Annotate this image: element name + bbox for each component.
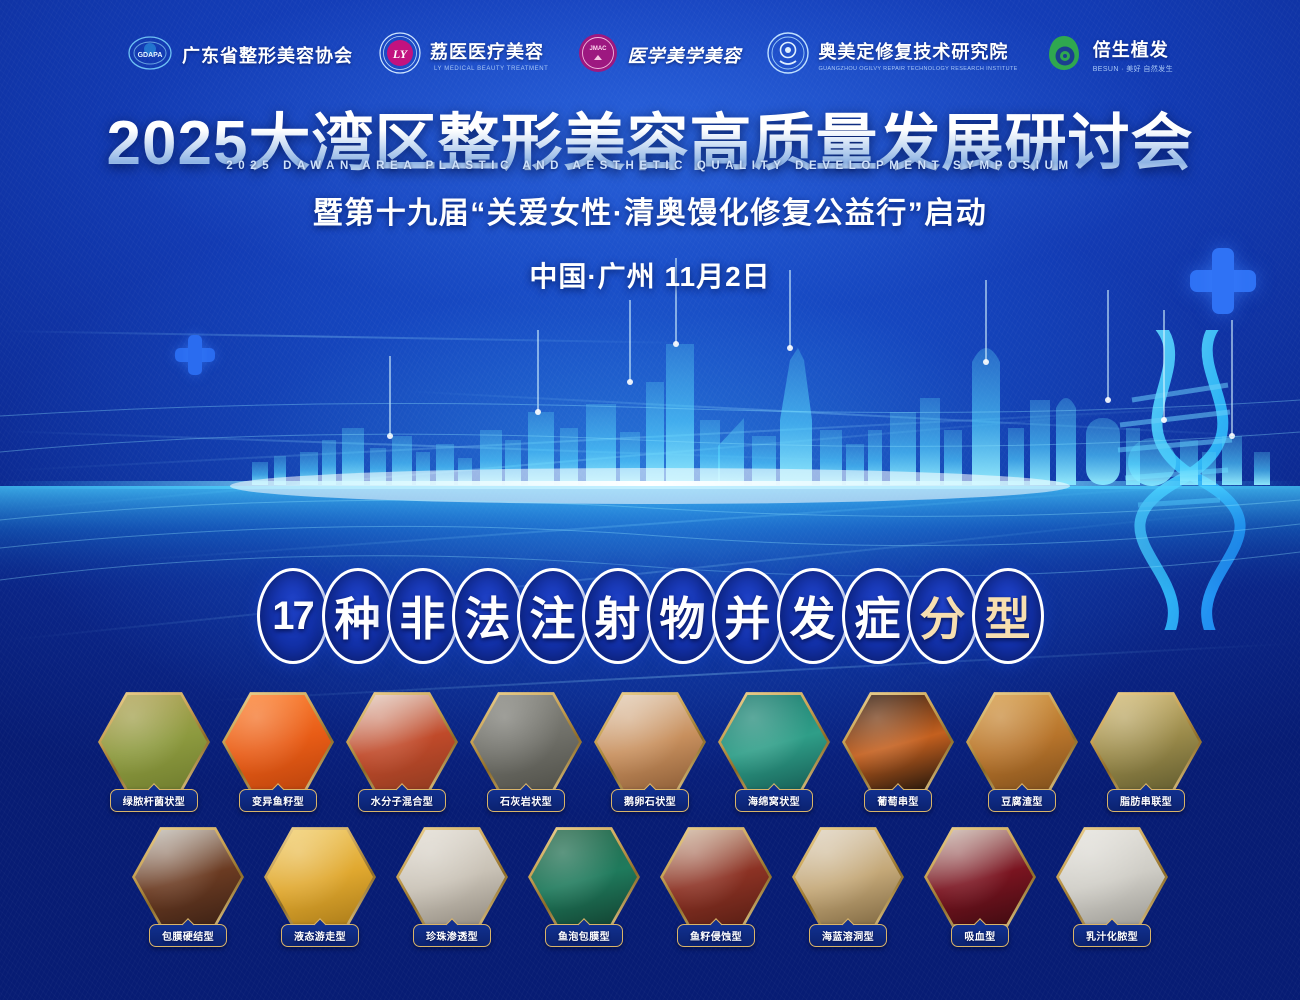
medical-aesthetics-logo-icon: JMAC [578,33,618,78]
complication-image-hex [132,825,244,929]
headline-char: 法 [452,568,524,664]
complication-label: 变异鱼籽型 [239,789,317,812]
complication-label: 海绵窝状型 [735,789,813,812]
complication-photo [267,828,373,926]
ly-medical-beauty-logo: LY 荔医医疗美容 LY MEDICAL BEAUTY TREATMENT [379,32,552,79]
complication-photo [531,828,637,926]
complication-label: 包膜硬结型 [149,924,227,947]
headline-char: 分 [907,568,979,664]
complication-label: 吸血型 [951,924,1008,947]
complication-image-hex [1090,690,1202,794]
complication-image-hex [924,825,1036,929]
complication-photo [399,828,505,926]
headline-char: 物 [647,568,719,664]
complication-photo [225,693,331,791]
besun-hair-logo-label: 倍生植发 [1093,36,1173,62]
complication-label: 液态游走型 [281,924,359,947]
complication-cell[interactable]: 鹅卵石状型 [594,690,706,812]
complication-row-1: 绿脓杆菌状型变异鱼籽型水分子混合型石灰岩状型鹅卵石状型海绵窝状型葡萄串型豆腐渣型… [0,690,1300,812]
headline-char: 发 [777,568,849,664]
complication-cell[interactable]: 海绵窝状型 [718,690,830,812]
complication-image-hex [842,690,954,794]
complication-photo [473,693,579,791]
event-datetime: 中国·广州 11月2日 [0,255,1300,295]
headline-char: 并 [712,568,784,664]
besun-hair-logo-icon [1044,33,1084,78]
complication-photo [101,693,207,791]
ogilvy-repair-institute-logo-label: 奥美定修复技术研究院 [818,38,1017,64]
ly-medical-beauty-logo-label: 荔医医疗美容 [430,38,552,64]
complication-label: 海蓝溶洞型 [809,924,887,947]
headline-char: 非 [387,568,459,664]
complication-label: 绿脓杆菌状型 [110,789,198,812]
complication-image-hex [718,690,830,794]
complication-label: 葡萄串型 [864,789,932,812]
complication-cell[interactable]: 海蓝溶洞型 [792,825,904,947]
complication-photo [721,693,827,791]
medical-aesthetics-logo: JMAC 医学美学美容 [578,33,741,78]
svg-text:JMAC: JMAC [590,46,608,52]
complication-label: 乳汁化脓型 [1073,924,1151,947]
headline-char: 型 [972,568,1044,664]
headline-char: 注 [517,568,589,664]
complication-cell[interactable]: 水分子混合型 [346,690,458,812]
complication-cell[interactable]: 脂肪串联型 [1090,690,1202,812]
complication-image-hex [346,690,458,794]
headline-char: 射 [582,568,654,664]
complication-photo [927,828,1033,926]
page-subtitle: 暨第十九届“关爱女性·清奥馒化修复公益行”启动 [0,188,1300,232]
ly-medical-beauty-logo-sublabel: LY MEDICAL BEAUTY TREATMENT [430,66,552,72]
complication-image-hex [966,690,1078,794]
headline-char: 种 [322,568,394,664]
medical-cross-icon-left [175,335,215,375]
headline-char: 17 [257,568,329,664]
gdapa-logo: GDAPA 广东省整形美容协会 [127,33,353,78]
sponsor-logo-bar: GDAPA 广东省整形美容协会 LY 荔医医疗美容 LY MEDICAL BEA… [0,26,1300,84]
complication-photo [845,693,951,791]
complication-cell[interactable]: 液态游走型 [264,825,376,947]
svg-text:LY: LY [392,47,409,61]
complication-label: 豆腐渣型 [988,789,1056,812]
complication-cell[interactable]: 石灰岩状型 [470,690,582,812]
complication-photo [795,828,901,926]
poster-canvas: GDAPA 广东省整形美容协会 LY 荔医医疗美容 LY MEDICAL BEA… [0,0,1300,1000]
complication-cell[interactable]: 珍珠渗透型 [396,825,508,947]
gdapa-logo-icon: GDAPA [127,33,173,78]
ogilvy-repair-institute-logo: 奥美定修复技术研究院 GUANGZHOU OGILVY REPAIR TECHN… [767,32,1017,79]
complication-image-hex [1056,825,1168,929]
ogilvy-repair-institute-logo-sublabel: GUANGZHOU OGILVY REPAIR TECHNOLOGY RESEA… [818,66,1017,72]
besun-hair-logo-sublabel: BESUN · 美好 自然发生 [1093,64,1173,74]
complication-cell[interactable]: 绿脓杆菌状型 [98,690,210,812]
gdapa-logo-label: 广东省整形美容协会 [182,42,353,68]
svg-text:GDAPA: GDAPA [138,52,163,59]
complication-cell[interactable]: 包膜硬结型 [132,825,244,947]
complication-photo [135,828,241,926]
headline-char: 症 [842,568,914,664]
complication-cell[interactable]: 吸血型 [924,825,1036,947]
complication-label: 鱼籽侵蚀型 [677,924,755,947]
complication-photo [597,693,703,791]
complication-photo [1093,693,1199,791]
page-title-english: 2025 DAWAN AREA PLASTIC AND AESTHETIC QU… [0,160,1300,172]
complication-image-hex [528,825,640,929]
complication-image-hex [660,825,772,929]
ogilvy-repair-institute-logo-icon [767,32,809,79]
complication-photo [969,693,1075,791]
complication-photo [663,828,769,926]
complication-image-hex [594,690,706,794]
ly-medical-beauty-logo-icon: LY [379,32,421,79]
complication-cell[interactable]: 乳汁化脓型 [1056,825,1168,947]
complication-image-hex [792,825,904,929]
complication-photo [349,693,455,791]
medical-aesthetics-logo-label: 医学美学美容 [627,42,741,68]
complication-label: 鱼泡包膜型 [545,924,623,947]
complication-image-hex [264,825,376,929]
complication-label: 珍珠渗透型 [413,924,491,947]
complication-label: 水分子混合型 [358,789,446,812]
complication-label: 脂肪串联型 [1107,789,1185,812]
complication-cell[interactable]: 变异鱼籽型 [222,690,334,812]
complication-label: 石灰岩状型 [487,789,565,812]
complication-image-hex [396,825,508,929]
besun-hair-logo: 倍生植发 BESUN · 美好 自然发生 [1044,33,1173,78]
complication-row-2: 包膜硬结型液态游走型珍珠渗透型鱼泡包膜型鱼籽侵蚀型海蓝溶洞型吸血型乳汁化脓型 [0,825,1300,947]
complication-label: 鹅卵石状型 [611,789,689,812]
complication-photo [1059,828,1165,926]
complications-headline: 17种非法注射物并发症分型 [0,568,1300,664]
complication-cell[interactable]: 鱼籽侵蚀型 [660,825,772,947]
complication-image-hex [470,690,582,794]
complication-cell[interactable]: 豆腐渣型 [966,690,1078,812]
complication-image-hex [98,690,210,794]
complication-cell[interactable]: 鱼泡包膜型 [528,825,640,947]
complication-cell[interactable]: 葡萄串型 [842,690,954,812]
complication-image-hex [222,690,334,794]
